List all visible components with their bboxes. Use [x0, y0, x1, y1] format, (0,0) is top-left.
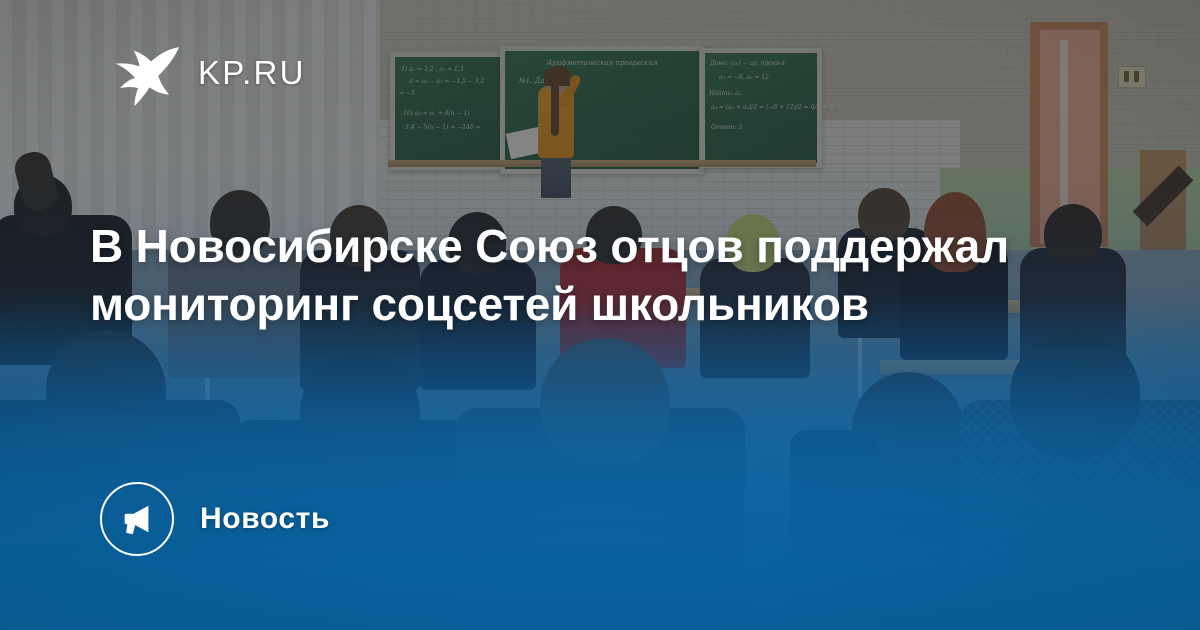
megaphone-icon — [100, 482, 174, 556]
status-badge[interactable]: Новость — [100, 482, 330, 556]
card-content: KP.RU В Новосибирске Союз отцов поддержа… — [0, 0, 1200, 630]
page-title: В Новосибирске Союз отцов поддержал мони… — [90, 217, 1090, 333]
swallow-bird-icon — [110, 36, 182, 110]
brand-logo[interactable]: KP.RU — [110, 36, 306, 110]
news-share-card: 1) a₁ = 3,2 , a₂ = 1,3 d = a₂ − a₁ = −1,… — [0, 0, 1200, 630]
brand-name: KP.RU — [198, 54, 306, 92]
badge-label: Новость — [200, 502, 330, 536]
